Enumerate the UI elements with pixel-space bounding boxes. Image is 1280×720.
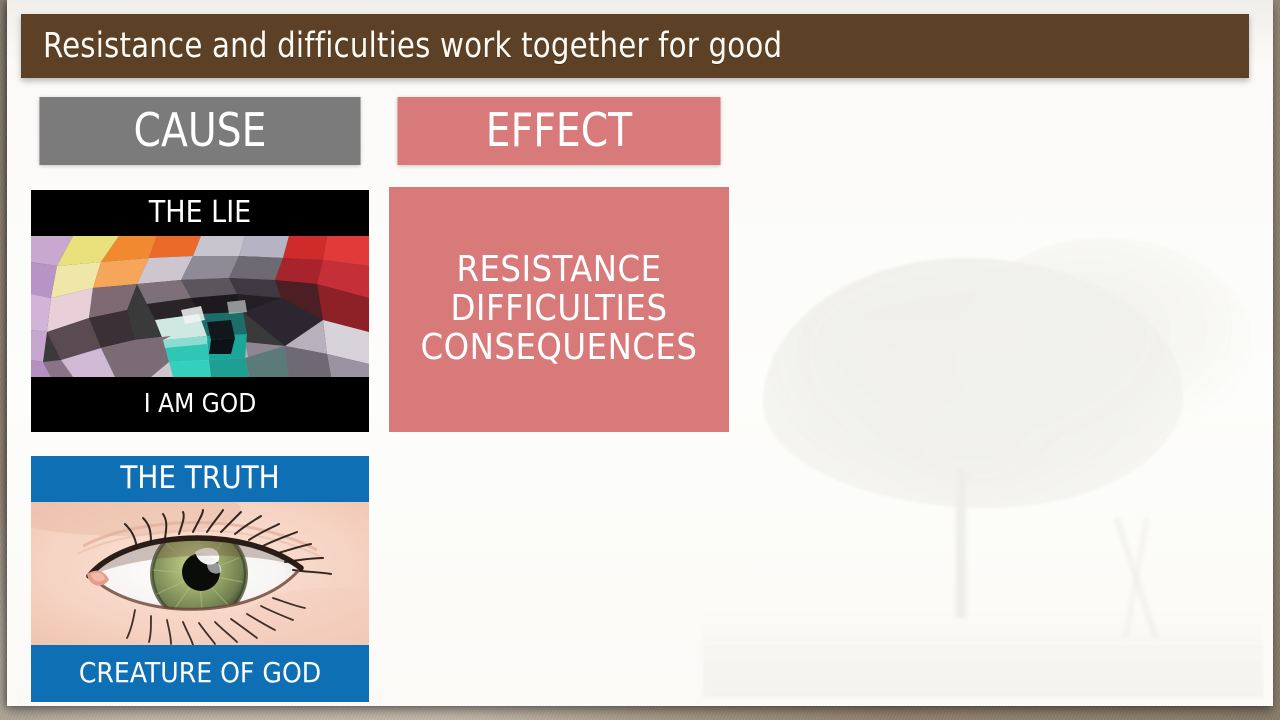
slide-title-bar: Resistance and difficulties work togethe… — [21, 14, 1249, 78]
effect-item-1: RESISTANCE — [456, 251, 661, 290]
human-eye-image — [31, 502, 369, 645]
the-lie-card-caption: I AM GOD — [31, 377, 369, 432]
cause-column-header: CAUSE — [39, 97, 360, 165]
effect-items-panel: RESISTANCE DIFFICULTIES CONSEQUENCES — [389, 187, 729, 432]
effect-item-2: DIFFICULTIES — [450, 290, 667, 329]
mosaic-eye-image — [31, 236, 369, 377]
tree-landscape-watermark — [703, 228, 1263, 698]
slide-canvas: CAUSE THE LIE — [7, 0, 1273, 706]
the-lie-card-header: THE LIE — [31, 190, 369, 236]
page-title: Resistance and difficulties work togethe… — [43, 26, 782, 66]
effect-item-3: CONSEQUENCES — [421, 329, 698, 368]
slide-stage: CAUSE THE LIE — [0, 0, 1280, 720]
effect-column-header: EFFECT — [398, 97, 721, 165]
the-truth-card-header: THE TRUTH — [31, 456, 369, 502]
the-truth-card-caption: CREATURE OF GOD — [31, 645, 369, 702]
